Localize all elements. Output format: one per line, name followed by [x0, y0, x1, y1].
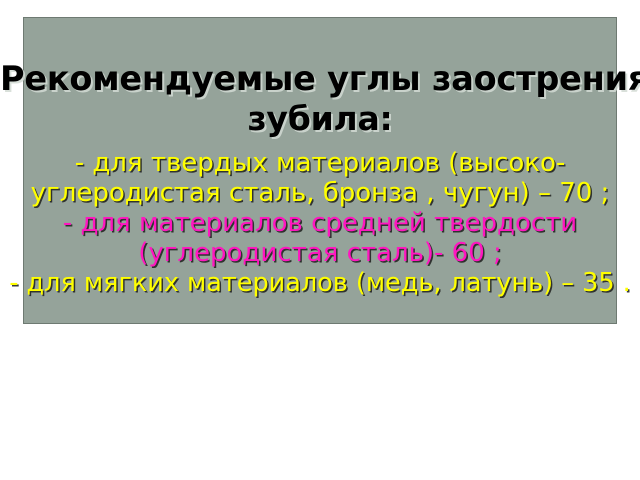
- slide-title-line-2: зубила:: [0, 99, 640, 139]
- body-line-3: - для материалов средней твердости: [0, 208, 640, 238]
- body-line-5: - для мягких материалов (медь, латунь) –…: [0, 268, 640, 298]
- slide-canvas: Рекомендуемые углы заострения зубила: - …: [0, 0, 640, 480]
- body-line-2: углеродистая сталь, бронза , чугун) – 70…: [0, 178, 640, 208]
- slide-title-line-1: Рекомендуемые углы заострения: [0, 59, 640, 99]
- slide-text-layer: Рекомендуемые углы заострения зубила: - …: [0, 17, 640, 298]
- body-line-4: (углеродистая сталь)- 60 ;: [0, 238, 640, 268]
- body-line-1: - для твердых материалов (высоко-: [0, 148, 640, 178]
